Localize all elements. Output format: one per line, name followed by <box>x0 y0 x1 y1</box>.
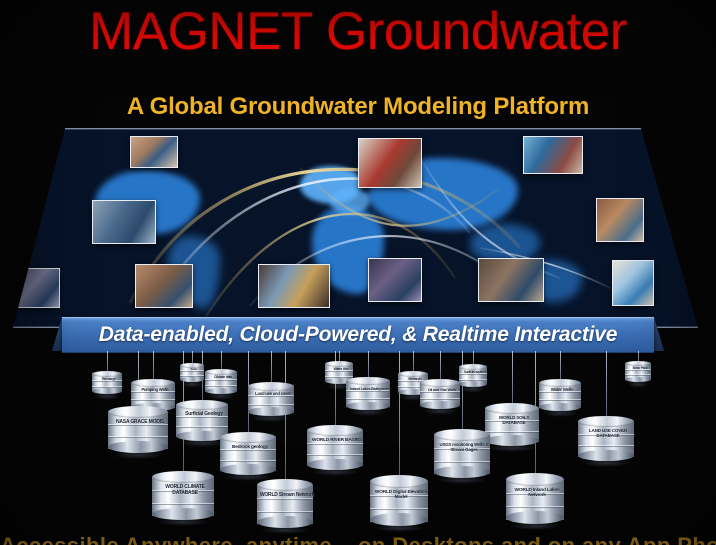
cylinder-bottom <box>420 401 460 409</box>
database-cylinder-field: RechargePumping WellsSoilsClimate dataLa… <box>0 351 716 545</box>
cylinder-label: Soils <box>180 368 208 371</box>
cylinder-bottom <box>625 377 651 382</box>
cylinder-band <box>625 374 651 376</box>
cylinder-label: LAND USE COVER DATABASE <box>578 429 638 439</box>
photo-tablet-user <box>130 136 178 168</box>
cylinder-band <box>346 398 390 400</box>
cylinder-label: WORLD Inland Lakes Network <box>506 488 568 498</box>
cylinder-band <box>180 375 204 377</box>
database-cylinder[interactable]: WORLD RIVER BASINS <box>307 425 363 469</box>
cylinder-band <box>539 399 581 401</box>
cylinder-label: Bedrock geology <box>220 445 280 450</box>
database-cylinder[interactable]: Land use and cover <box>248 382 294 415</box>
cylinder-band <box>176 426 228 428</box>
photo-students-desk <box>478 258 544 302</box>
bottom-caption: Accessible Anywhere, anytime... on Deskt… <box>0 533 716 545</box>
photo-office-desk <box>358 138 422 188</box>
cylinder-hanging-wire <box>153 351 154 382</box>
cylinder-band <box>420 398 460 400</box>
photo-students-table <box>135 264 193 308</box>
cylinder-label: Snow Pack <box>625 367 655 370</box>
cylinder-hanging-wire <box>368 351 369 380</box>
cylinder-bottom <box>346 402 390 410</box>
cylinder-bottom <box>220 464 276 475</box>
database-cylinder[interactable]: Water Wells <box>539 379 581 410</box>
cylinder-bottom <box>459 381 487 387</box>
cylinder-bottom <box>506 511 564 524</box>
cylinder-label: Surficial Geology <box>176 412 232 417</box>
cylinder-label: Land use and cover <box>248 392 298 397</box>
cylinder-label: Oil and Gas Wells <box>420 388 464 392</box>
photo-field-worker <box>596 198 644 242</box>
cylinder-top <box>485 403 539 414</box>
cylinder-bottom <box>248 407 294 416</box>
cylinder-bottom <box>257 516 313 528</box>
photo-classroom-laptops <box>92 200 156 244</box>
cylinder-top <box>248 382 294 391</box>
cylinder-bottom <box>307 459 363 470</box>
world-map-clip <box>0 128 716 328</box>
cylinder-top <box>506 473 564 486</box>
slide-title: MAGNET Groundwater <box>0 2 716 62</box>
cylinder-hanging-wire <box>560 351 561 382</box>
cylinder-top <box>108 406 168 418</box>
cylinder-band <box>248 404 294 406</box>
cylinder-label: WORLD CLIMATE DATABASE <box>152 485 218 496</box>
cylinder-label: WORLD SOILS DATABASE <box>485 416 543 426</box>
database-cylinder[interactable]: WORLD Stream Network <box>257 479 313 527</box>
slide-canvas: MAGNET Groundwater A Global Groundwater … <box>0 0 716 545</box>
cylinder-label: NASA GRACE MODIS <box>108 420 172 425</box>
cylinder-bottom <box>205 388 237 394</box>
cylinder-hanging-wire <box>512 351 513 406</box>
database-cylinder[interactable]: Recharge <box>92 371 122 393</box>
cylinder-band <box>220 460 276 462</box>
cylinder-bottom <box>434 466 490 478</box>
photo-conference-left <box>368 258 422 302</box>
tagline-banner: Data-enabled, Cloud-Powered, & Realtime … <box>62 317 654 353</box>
cylinder-band <box>434 461 490 463</box>
cylinder-top <box>325 361 353 367</box>
cylinder-label: WORLD Digital Elevation Model <box>370 490 432 500</box>
photo-dual-monitor-user <box>523 136 583 174</box>
cylinder-bottom <box>539 403 581 411</box>
cylinder-band <box>108 436 168 438</box>
cylinder-band <box>152 503 214 505</box>
cylinder-label: USGS monitoring Wells & Stream Gages <box>434 443 494 453</box>
cylinder-top <box>131 379 175 387</box>
cylinder-band <box>506 506 564 508</box>
cylinder-top <box>420 379 460 387</box>
database-cylinder[interactable]: USGS monitoring Wells & Stream Gages <box>434 429 490 477</box>
cylinder-band <box>307 454 363 456</box>
cylinder-top <box>370 475 428 488</box>
cylinder-label: Water Use <box>325 368 357 372</box>
database-cylinder[interactable]: Surficial aquifers <box>459 364 487 386</box>
database-cylinder[interactable]: Bedrock geology <box>220 432 276 474</box>
cylinder-label: WORLD Stream Network <box>257 493 317 498</box>
cylinder-band <box>257 511 313 513</box>
cylinder-band <box>92 386 122 388</box>
database-cylinder[interactable]: Snow Pack <box>625 361 651 381</box>
database-cylinder[interactable]: Climate data <box>205 369 237 393</box>
slide-subtitle: A Global Groundwater Modeling Platform <box>0 93 716 121</box>
cylinder-label: Water Wells <box>539 388 585 393</box>
cylinder-label: Pumping Wells <box>131 388 179 393</box>
database-cylinder[interactable]: WORLD SOILS DATABASE <box>485 403 539 445</box>
photo-lab-bench <box>14 268 60 308</box>
cylinder-hanging-wire <box>271 351 272 385</box>
database-cylinder[interactable]: WORLD CLIMATE DATABASE <box>152 471 214 519</box>
cylinder-bottom <box>152 508 214 520</box>
cylinder-top <box>92 371 122 377</box>
cylinder-bottom <box>92 388 122 394</box>
database-cylinder[interactable]: Soils <box>180 363 204 381</box>
database-cylinder[interactable]: LAND USE COVER DATABASE <box>578 416 634 460</box>
cylinder-label: Inland Lakes Bathymetry <box>346 387 394 391</box>
cylinder-label: Surficial aquifers <box>459 371 491 374</box>
cylinder-label: Recharge <box>92 378 126 382</box>
cylinder-bottom <box>370 513 428 526</box>
database-cylinder[interactable]: WORLD Inland Lakes Network <box>506 473 564 523</box>
cylinder-top <box>220 432 276 443</box>
cylinder-top <box>539 379 581 387</box>
cylinder-bottom <box>578 450 634 461</box>
cylinder-band <box>370 508 428 510</box>
database-cylinder[interactable]: NASA GRACE MODIS <box>108 406 168 452</box>
cylinder-bottom <box>180 377 204 382</box>
cylinder-band <box>485 431 539 433</box>
cylinder-band <box>578 445 634 447</box>
cylinder-bottom <box>108 441 168 453</box>
database-cylinder[interactable]: Inland Lakes Bathymetry <box>346 377 390 409</box>
cylinder-hanging-wire <box>440 351 441 382</box>
cylinder-top <box>459 364 487 370</box>
cylinder-label: Climate data <box>205 376 241 380</box>
cylinder-hanging-wire <box>606 351 607 419</box>
cylinder-band <box>459 379 487 381</box>
photo-lecture-screen <box>258 264 330 308</box>
cylinder-band <box>205 385 237 387</box>
photo-smartphone-map <box>612 260 654 306</box>
cylinder-label: WORLD RIVER BASINS <box>307 438 367 443</box>
tagline-text: Data-enabled, Cloud-Powered, & Realtime … <box>99 323 617 347</box>
cylinder-band <box>131 399 175 401</box>
database-cylinder[interactable]: WORLD Digital Elevation Model <box>370 475 428 525</box>
database-cylinder[interactable]: Oil and Gas Wells <box>420 379 460 408</box>
